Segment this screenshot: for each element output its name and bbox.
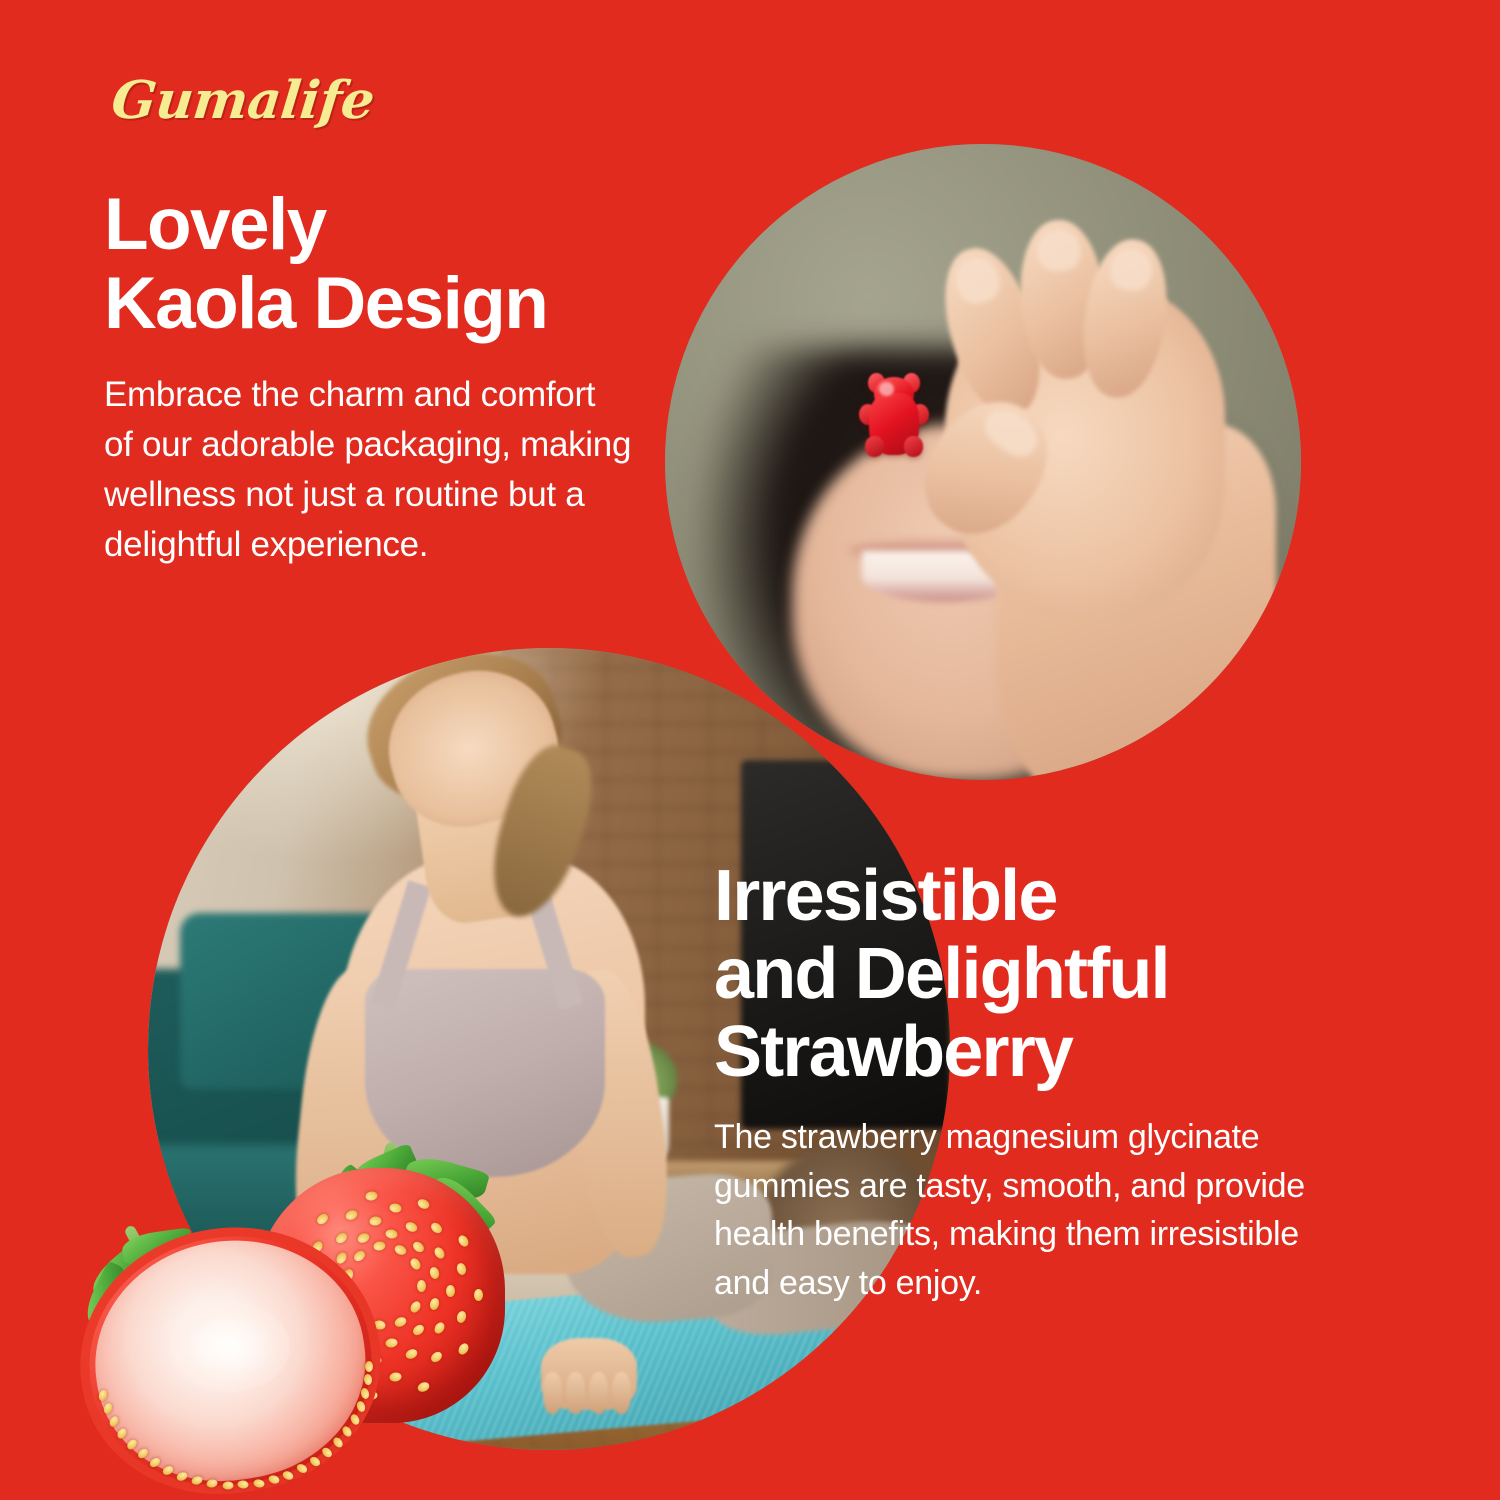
fingernail [1108, 247, 1155, 294]
body-copy-irresistible-strawberry: The strawberry magnesium glycinate gummi… [714, 1113, 1414, 1307]
strawberry-seed [393, 1316, 408, 1329]
body-line: delightful experience. [104, 520, 724, 570]
strawberry-seed [455, 1262, 467, 1276]
strawberry-seed [102, 1402, 113, 1415]
halved-strawberry [80, 1228, 380, 1493]
strawberry-seed [428, 1297, 440, 1311]
headline-line: Irresistible [714, 858, 1414, 936]
strawberry-seed [416, 1380, 431, 1393]
headline-line: and Delightful [714, 936, 1414, 1014]
body-line: wellness not just a routine but a [104, 470, 724, 520]
strawberry-seed [148, 1456, 162, 1469]
strawberry-seed [455, 1310, 467, 1324]
strawberry-seed [404, 1220, 419, 1233]
strawberry-seed [98, 1389, 108, 1402]
strawberry-seed [389, 1203, 402, 1214]
strawberry-seed [365, 1360, 373, 1371]
brand-logo: Gumalife [109, 70, 377, 131]
strawberry-seed [360, 1387, 370, 1400]
fingernail [951, 253, 1005, 308]
strawberry-seed [320, 1446, 333, 1459]
strawberry-seed [125, 1437, 138, 1451]
strawberry-seed [341, 1424, 354, 1438]
headline-line: Strawberry [714, 1014, 1414, 1092]
headline-lovely-kaola-design: Lovely Kaola Design [104, 186, 724, 344]
strawberry-seed [237, 1481, 249, 1490]
strawberry-seed [190, 1475, 203, 1486]
strawberry-seed [363, 1374, 372, 1386]
body-line: Embrace the charm and comfort [104, 370, 724, 420]
strawberry-seed [457, 1342, 471, 1357]
strawberry-seed [409, 1300, 423, 1315]
gummy-bear-icon [859, 370, 929, 459]
headline-line: Lovely [104, 186, 724, 265]
strawberry-seed [416, 1197, 431, 1210]
strawberry-seed [206, 1479, 218, 1489]
strawberry-seed [365, 1191, 378, 1202]
fingernail [1036, 229, 1082, 273]
strawberry-seed [331, 1435, 344, 1449]
strawberry-seed [315, 1212, 330, 1227]
section-irresistible-strawberry: Irresistible and Delightful Strawberry T… [714, 858, 1414, 1308]
strawberry-seed [344, 1209, 359, 1222]
strawberry-seed [349, 1412, 361, 1425]
strawberry-seed [417, 1280, 426, 1292]
strawberry-seed [222, 1481, 233, 1490]
body-line: gummies are tasty, smooth, and provide [714, 1162, 1414, 1211]
strawberry-seed [446, 1285, 455, 1297]
headline-irresistible-strawberry: Irresistible and Delightful Strawberry [714, 858, 1414, 1091]
gummy-leg-left [865, 436, 885, 457]
strawberry-seed [411, 1239, 426, 1254]
strawberry-seed [474, 1289, 483, 1301]
finger [612, 1372, 631, 1414]
strawberry-seed [296, 1463, 310, 1475]
strawberry-seed [428, 1266, 440, 1280]
body-copy-lovely-kaola-design: Embrace the charm and comfort of our ado… [104, 370, 724, 570]
strawberry-seed [429, 1350, 444, 1365]
strawberry-seed [175, 1470, 188, 1482]
strawberry-seed [369, 1216, 382, 1227]
body-line: of our adorable packaging, making [104, 420, 724, 470]
gummy-leg-right [904, 436, 924, 457]
strawberry-seed [282, 1469, 295, 1481]
strawberry-seed [161, 1464, 175, 1476]
strawberry-seed [108, 1415, 120, 1428]
strawberry-seed [252, 1478, 264, 1488]
strawberry-seed [433, 1321, 447, 1336]
headline-line: Kaola Design [104, 265, 724, 344]
strawberry-seed [393, 1243, 408, 1256]
strawberry-seed [457, 1233, 471, 1248]
strawberry-seed [389, 1372, 402, 1383]
strawberry-seed [136, 1447, 150, 1460]
strawberry-seed [411, 1322, 426, 1337]
strawberry-seed [385, 1228, 398, 1239]
strawberry-seed [308, 1455, 322, 1468]
strawberry-seed [267, 1475, 280, 1486]
strawberry-seed [433, 1245, 447, 1260]
body-line: and easy to enjoy. [714, 1259, 1414, 1308]
section-lovely-kaola-design: Lovely Kaola Design Embrace the charm an… [104, 186, 724, 570]
strawberry-seed [116, 1426, 129, 1440]
strawberry-seed [385, 1337, 398, 1348]
strawberry-seed [409, 1257, 423, 1272]
strawberry-seed [404, 1348, 419, 1361]
strawberry-group [70, 1130, 590, 1500]
body-line: health benefits, making them irresistibl… [714, 1210, 1414, 1259]
strawberry-edge-seeds [80, 1228, 380, 1493]
strawberry-seed [429, 1221, 444, 1236]
finger [589, 1372, 608, 1414]
body-line: The strawberry magnesium glycinate [714, 1113, 1414, 1162]
strawberry-seed [355, 1400, 366, 1413]
